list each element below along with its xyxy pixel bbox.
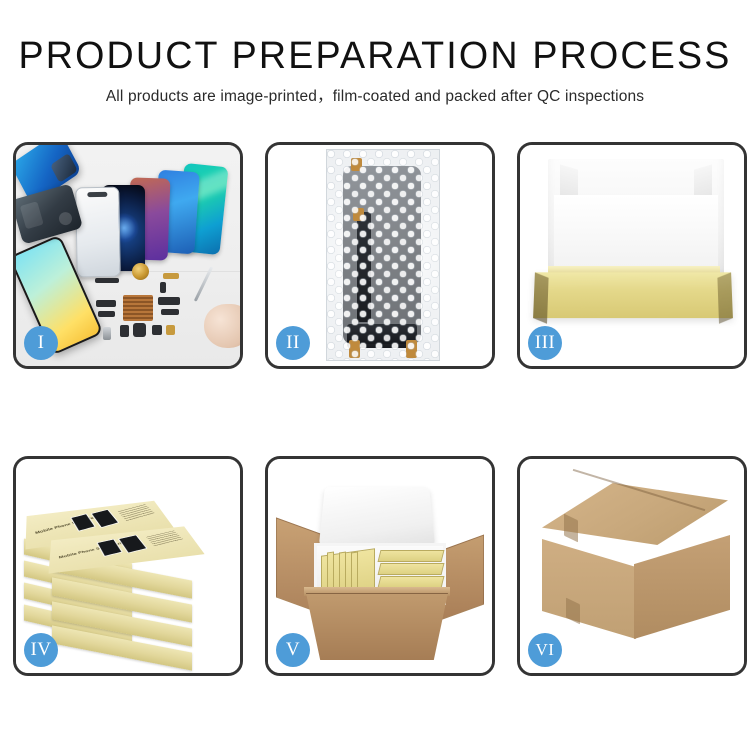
step-badge-4: IV [24, 633, 58, 667]
box-window-front-b [118, 535, 147, 554]
part-flex-cable-c [158, 297, 180, 305]
product-preparation-page: PRODUCT PREPARATION PROCESS All products… [0, 0, 750, 750]
process-step-card-4[interactable]: Mobile Phone Spare Parts Mobile Phone Sp… [13, 456, 243, 676]
part-vibrator [152, 325, 162, 335]
part-antenna-strip [95, 278, 119, 283]
part-flex-cable-b [98, 311, 115, 317]
part-sim-tray [103, 327, 111, 340]
part-speaker-module [133, 323, 146, 337]
process-step-card-6[interactable]: VI [517, 456, 747, 676]
process-step-grid: I II [13, 142, 737, 676]
step-badge-2: II [276, 326, 310, 360]
process-step-card-1[interactable]: I [13, 142, 243, 369]
step-badge-3: III [528, 326, 562, 360]
page-header: PRODUCT PREPARATION PROCESS All products… [0, 34, 750, 106]
foam-liner [554, 195, 718, 273]
part-screw-tray [123, 295, 153, 321]
part-speaker-coil [132, 263, 149, 280]
kraft-box-front [533, 272, 733, 318]
page-subtitle: All products are image-printed，film-coat… [0, 87, 750, 106]
process-step-card-2[interactable]: II [265, 142, 495, 369]
bubble-wrap-package [326, 149, 440, 361]
process-step-card-5[interactable]: V [265, 456, 495, 676]
foam-lid [319, 487, 435, 547]
step-badge-5: V [276, 633, 310, 667]
part-gold-connector [163, 273, 179, 279]
part-gold-chip [166, 325, 175, 335]
carton-front-panel [306, 593, 448, 660]
step-badge-6: VI [528, 633, 562, 667]
box-text-lines-rear [118, 504, 156, 522]
part-camera-module [120, 325, 129, 337]
part-flex-cable-a [96, 300, 116, 307]
step-badge-1: I [24, 326, 58, 360]
part-flex-cable-d [161, 309, 179, 315]
box-text-lines-front [146, 530, 184, 547]
bubble-texture [327, 150, 439, 360]
part-small-flex [160, 282, 166, 293]
process-step-card-3[interactable]: III [517, 142, 747, 369]
page-title: PRODUCT PREPARATION PROCESS [4, 34, 747, 78]
inner-box-row-2 [378, 563, 445, 575]
inner-box-row-1 [378, 550, 445, 562]
phone-glass-panel [75, 187, 121, 278]
